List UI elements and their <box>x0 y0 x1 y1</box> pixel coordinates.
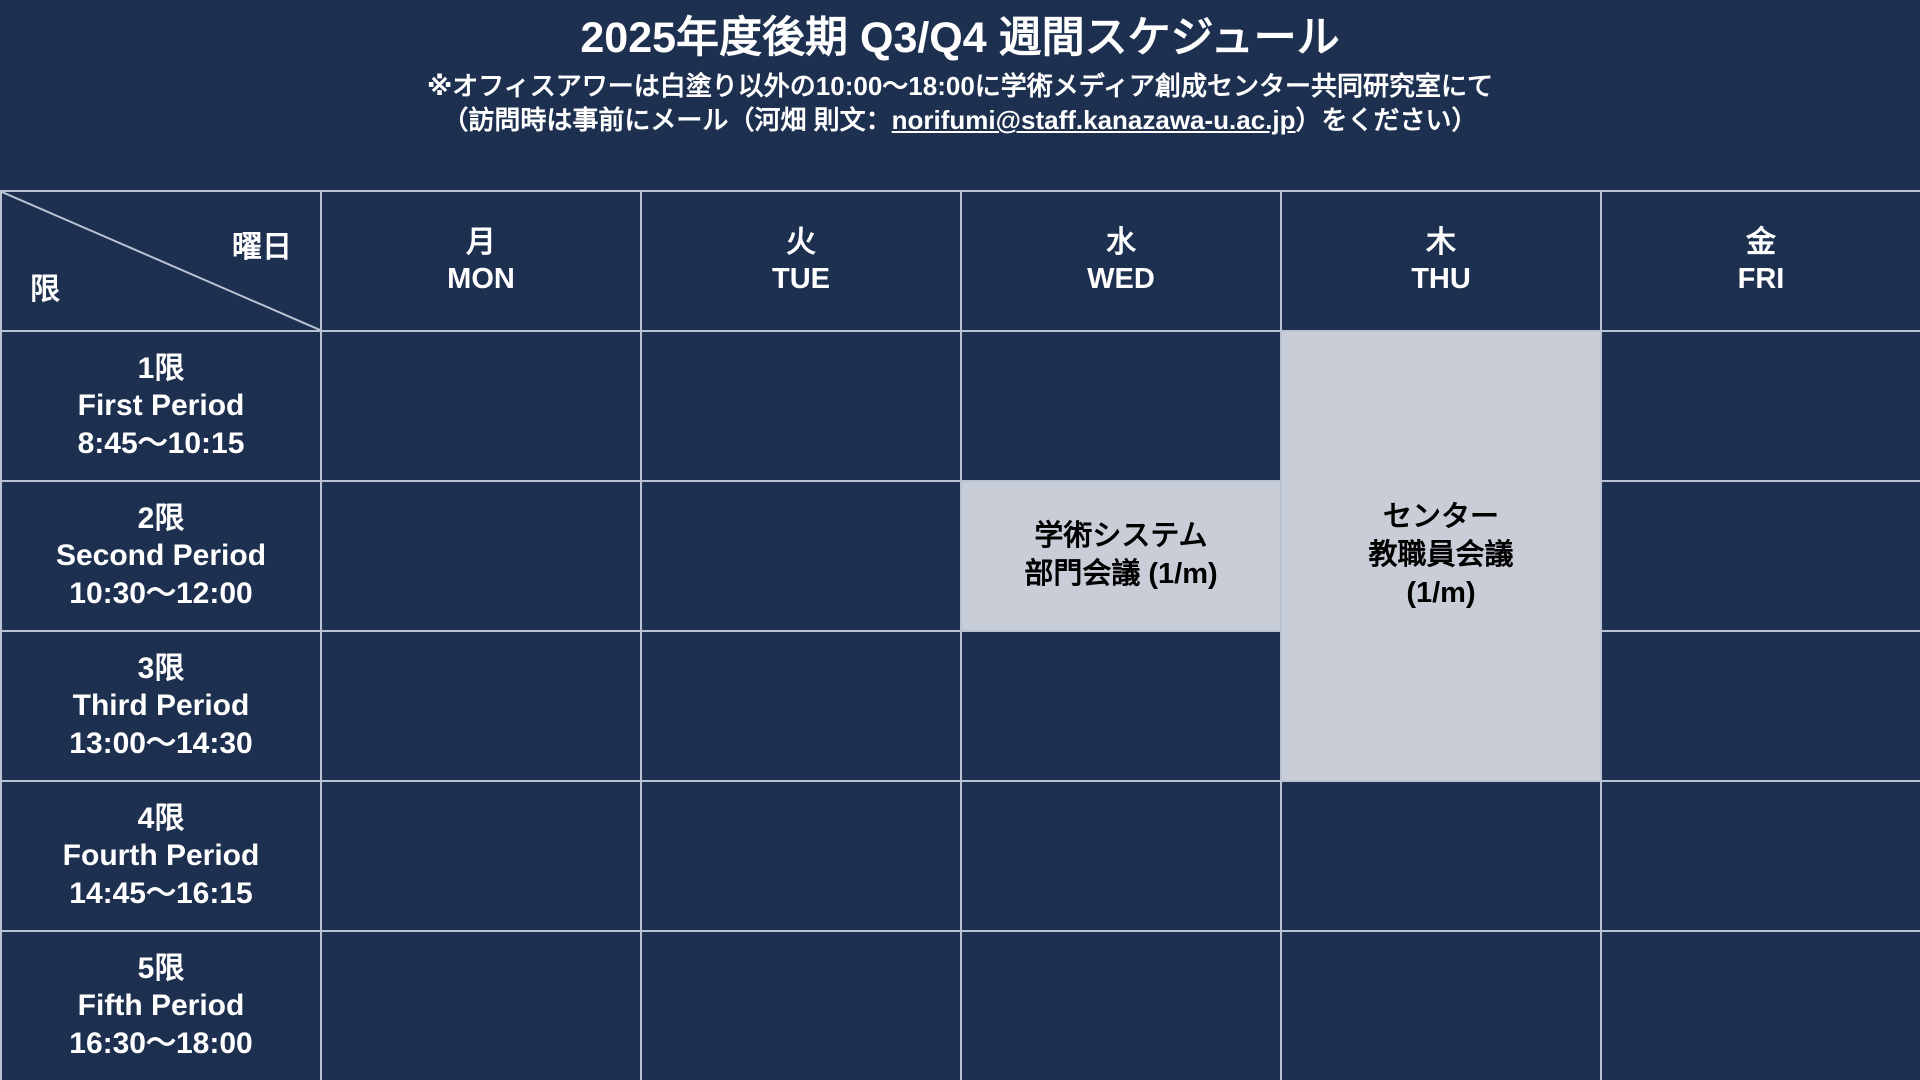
cell-fri-4[interactable] <box>1601 781 1920 931</box>
period-label-4: 4限 Fourth Period 14:45〜16:15 <box>1 781 321 931</box>
day-header-tue-en: TUE <box>642 262 960 297</box>
cell-fri-1[interactable] <box>1601 331 1920 481</box>
period-3-jp: 3限 <box>2 650 320 687</box>
weekly-schedule-table: 曜日 限 月 MON 火 TUE 水 WED 木 THU 金 FRI <box>0 190 1920 1080</box>
cell-fri-5[interactable] <box>1601 931 1920 1080</box>
office-hours-note: ※オフィスアワーは白塗り以外の10:00〜18:00に学術メディア創成センター共… <box>0 70 1920 104</box>
event-wed-system-division-meeting-label: 学術システム 部門会議 (1/m) <box>962 518 1280 593</box>
contact-note: （訪問時は事前にメール（河畑 則文：norifumi@staff.kanazaw… <box>0 104 1920 138</box>
cell-wed-1[interactable] <box>961 331 1281 481</box>
day-header-fri: 金 FRI <box>1601 191 1920 331</box>
day-header-tue-jp: 火 <box>642 225 960 262</box>
day-header-wed: 水 WED <box>961 191 1281 331</box>
day-header-thu-jp: 木 <box>1282 225 1600 262</box>
contact-note-prefix: （訪問時は事前にメール（河畑 則文： <box>442 105 891 135</box>
day-header-fri-jp: 金 <box>1602 225 1920 262</box>
event-thu-faculty-meeting-label: センター 教職員会議 (1/m) <box>1282 499 1600 612</box>
period-3-en: Third Period <box>2 687 320 724</box>
day-header-mon-en: MON <box>322 262 640 297</box>
table-row: 2限 Second Period 10:30〜12:00 学術システム 部門会議… <box>1 481 1920 631</box>
cell-mon-4[interactable] <box>321 781 641 931</box>
day-header-wed-en: WED <box>962 262 1280 297</box>
corner-day-label: 曜日 <box>232 222 292 266</box>
event-wed-system-division-meeting[interactable]: 学術システム 部門会議 (1/m) <box>961 481 1281 631</box>
corner-header-cell: 曜日 限 <box>1 191 321 331</box>
cell-tue-4[interactable] <box>641 781 961 931</box>
cell-mon-3[interactable] <box>321 631 641 781</box>
period-5-time: 16:30〜18:00 <box>2 1025 320 1062</box>
table-row: 4限 Fourth Period 14:45〜16:15 <box>1 781 1920 931</box>
contact-note-suffix: ）をください） <box>1296 105 1478 135</box>
cell-tue-5[interactable] <box>641 931 961 1080</box>
day-header-wed-jp: 水 <box>962 225 1280 262</box>
event-thu-faculty-meeting[interactable]: センター 教職員会議 (1/m) <box>1281 331 1601 781</box>
day-header-mon-jp: 月 <box>322 225 640 262</box>
period-2-en: Second Period <box>2 537 320 574</box>
period-label-5: 5限 Fifth Period 16:30〜18:00 <box>1 931 321 1080</box>
period-3-time: 13:00〜14:30 <box>2 725 320 762</box>
day-header-thu: 木 THU <box>1281 191 1601 331</box>
cell-thu-4[interactable] <box>1281 781 1601 931</box>
schedule-page: 2025年度後期 Q3/Q4 週間スケジュール ※オフィスアワーは白塗り以外の1… <box>0 0 1920 1080</box>
period-4-jp: 4限 <box>2 800 320 837</box>
period-4-time: 14:45〜16:15 <box>2 875 320 912</box>
period-1-en: First Period <box>2 387 320 424</box>
contact-email[interactable]: norifumi@staff.kanazawa-u.ac.jp <box>892 105 1296 135</box>
page-header: 2025年度後期 Q3/Q4 週間スケジュール ※オフィスアワーは白塗り以外の1… <box>0 0 1920 138</box>
cell-wed-3[interactable] <box>961 631 1281 781</box>
period-1-jp: 1限 <box>2 350 320 387</box>
period-2-time: 10:30〜12:00 <box>2 575 320 612</box>
cell-thu-5[interactable] <box>1281 931 1601 1080</box>
period-label-2: 2限 Second Period 10:30〜12:00 <box>1 481 321 631</box>
cell-mon-5[interactable] <box>321 931 641 1080</box>
period-5-en: Fifth Period <box>2 987 320 1024</box>
cell-tue-2[interactable] <box>641 481 961 631</box>
period-label-1: 1限 First Period 8:45〜10:15 <box>1 331 321 481</box>
table-row: 1限 First Period 8:45〜10:15 センター 教職員会議 (1… <box>1 331 1920 481</box>
period-label-3: 3限 Third Period 13:00〜14:30 <box>1 631 321 781</box>
cell-tue-1[interactable] <box>641 331 961 481</box>
cell-fri-2[interactable] <box>1601 481 1920 631</box>
page-title: 2025年度後期 Q3/Q4 週間スケジュール <box>0 14 1920 63</box>
cell-wed-4[interactable] <box>961 781 1281 931</box>
cell-mon-2[interactable] <box>321 481 641 631</box>
period-1-time: 8:45〜10:15 <box>2 425 320 462</box>
table-row: 5限 Fifth Period 16:30〜18:00 <box>1 931 1920 1080</box>
cell-wed-5[interactable] <box>961 931 1281 1080</box>
period-5-jp: 5限 <box>2 950 320 987</box>
table-row: 3限 Third Period 13:00〜14:30 <box>1 631 1920 781</box>
table-header-row: 曜日 限 月 MON 火 TUE 水 WED 木 THU 金 FRI <box>1 191 1920 331</box>
period-2-jp: 2限 <box>2 500 320 537</box>
day-header-tue: 火 TUE <box>641 191 961 331</box>
cell-tue-3[interactable] <box>641 631 961 781</box>
period-4-en: Fourth Period <box>2 837 320 874</box>
cell-fri-3[interactable] <box>1601 631 1920 781</box>
day-header-fri-en: FRI <box>1602 262 1920 297</box>
day-header-mon: 月 MON <box>321 191 641 331</box>
cell-mon-1[interactable] <box>321 331 641 481</box>
day-header-thu-en: THU <box>1282 262 1600 297</box>
corner-period-label: 限 <box>30 264 60 308</box>
